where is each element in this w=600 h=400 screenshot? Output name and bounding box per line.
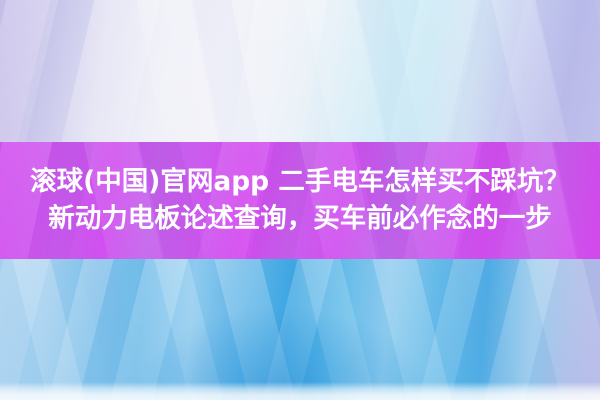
streak-wedge (52, 0, 170, 142)
streak-wedge (183, 0, 267, 142)
streak-wedge (144, 259, 234, 400)
streak-wedge (0, 0, 68, 142)
top-streak-overlay (0, 0, 600, 142)
headline-line-2: 新动力电板论述查询，买车前必作念的一步 (48, 203, 552, 235)
streak-wedge (474, 259, 570, 400)
streak-wedge (438, 0, 534, 142)
streak-wedge (380, 0, 490, 142)
streak-wedge (362, 259, 462, 400)
streak-wedge (408, 259, 496, 400)
streak-wedge (290, 259, 386, 400)
top-gradient-region (0, 0, 600, 142)
streak-wedge (524, 0, 600, 142)
streak-wedge (328, 259, 418, 400)
promo-banner: 滚球(中国)官网app 二手电车怎样买不踩坑？ 新动力电板论述查询，买车前必作念… (0, 0, 600, 400)
streak-wedge (482, 0, 578, 142)
headline-text-block: 滚球(中国)官网app 二手电车怎样买不踩坑？ 新动力电板论述查询，买车前必作念… (0, 142, 600, 259)
streak-wedge (516, 259, 600, 400)
streak-wedge (8, 0, 104, 142)
headline-line-1: 滚球(中国)官网app 二手电车怎样买不踩坑？ (30, 166, 570, 198)
streak-wedge (68, 259, 158, 400)
streak-wedge (223, 0, 335, 142)
bottom-gradient-region (0, 259, 600, 400)
streak-wedge (294, 0, 396, 142)
streak-wedge (440, 259, 532, 400)
streak-wedge (0, 259, 60, 400)
streak-wedge (100, 259, 198, 400)
streak-wedge (346, 0, 430, 142)
streak-wedge (128, 0, 230, 142)
streak-wedge (204, 259, 306, 400)
bottom-streak-overlay (0, 259, 600, 400)
streak-wedge (38, 259, 124, 400)
streak-wedge (252, 259, 344, 400)
streak-wedge (176, 259, 262, 400)
streak-wedge (2, 259, 96, 400)
